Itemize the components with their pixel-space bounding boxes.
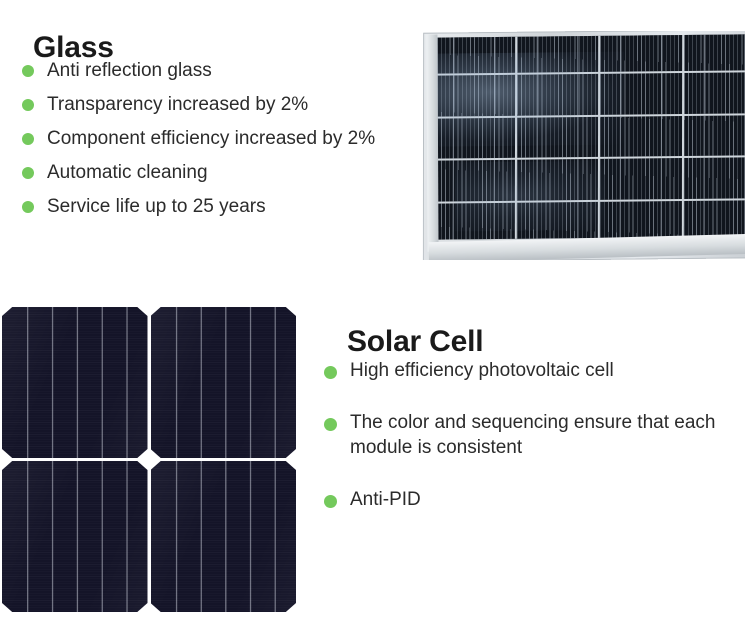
- panel-cell: [516, 201, 598, 239]
- solar-cell-section-heading: Solar Cell: [347, 325, 483, 359]
- list-item: Transparency increased by 2%: [21, 92, 421, 117]
- panel-cell: [435, 160, 515, 201]
- list-item: Automatic cleaning: [21, 160, 421, 185]
- panel-cell: [600, 158, 682, 199]
- list-item: Component efficiency increased by 2%: [21, 126, 421, 151]
- panel-cell-grid: [435, 34, 745, 239]
- bullet-dot-icon: [324, 366, 337, 379]
- bullet-dot-icon: [22, 133, 34, 145]
- bullet-dot-icon: [22, 201, 34, 213]
- solar-cell-feature-list: High efficiency photovoltaic cell The co…: [322, 358, 742, 539]
- panel-cell: [600, 34, 682, 72]
- mono-solar-cell: [2, 461, 148, 612]
- cell-sheen: [151, 307, 297, 458]
- list-item-label: Component efficiency increased by 2%: [47, 126, 421, 151]
- bullet-dot-icon: [22, 65, 34, 77]
- panel-cell: [600, 116, 682, 157]
- list-item-label: The color and sequencing ensure that eac…: [350, 410, 742, 460]
- list-item-label: Anti-PID: [350, 487, 742, 512]
- list-item: Anti-PID: [322, 487, 742, 512]
- mono-solar-cell: [151, 461, 297, 612]
- panel-cell: [684, 73, 745, 114]
- cell-sheen: [2, 461, 148, 612]
- mono-solar-cell: [2, 307, 148, 458]
- panel-cell: [435, 34, 515, 74]
- mono-solar-cell: [151, 307, 297, 458]
- solar-cells-closeup-photo: [0, 303, 298, 615]
- bullet-dot-icon: [324, 418, 337, 431]
- list-item-label: Transparency increased by 2%: [47, 92, 421, 117]
- cell-sheen: [151, 461, 297, 612]
- panel-frame-left-rail: [426, 35, 438, 252]
- solar-cells-grid: [2, 307, 296, 612]
- list-item-label: High efficiency photovoltaic cell: [350, 358, 742, 383]
- list-item-label: Service life up to 25 years: [47, 194, 421, 219]
- panel-cell: [435, 202, 515, 239]
- panel-cell: [435, 118, 515, 159]
- panel-cell: [517, 74, 599, 115]
- list-item-label: Automatic cleaning: [47, 160, 421, 185]
- list-item: High efficiency photovoltaic cell: [322, 358, 742, 383]
- panel-cell: [684, 34, 745, 71]
- panel-laminate: [435, 34, 745, 239]
- list-item: Anti reflection glass: [21, 58, 421, 83]
- list-item: Service life up to 25 years: [21, 194, 421, 219]
- bullet-dot-icon: [22, 99, 34, 111]
- panel-cell: [517, 34, 599, 73]
- glass-feature-list: Anti reflection glass Transparency incre…: [21, 58, 421, 228]
- solar-panel-closeup-photo: [420, 31, 745, 260]
- panel-cell: [600, 73, 682, 114]
- panel-cell: [600, 201, 682, 240]
- bullet-dot-icon: [22, 167, 34, 179]
- panel-cell: [683, 157, 745, 198]
- panel-cell: [516, 159, 598, 200]
- panel-cell: [683, 115, 745, 156]
- bullet-dot-icon: [324, 495, 337, 508]
- panel-cell: [516, 117, 598, 158]
- panel-frame: [423, 31, 745, 260]
- cell-sheen: [2, 307, 148, 458]
- list-item-label: Anti reflection glass: [47, 58, 421, 83]
- panel-cell: [435, 75, 515, 116]
- list-item: The color and sequencing ensure that eac…: [322, 410, 742, 460]
